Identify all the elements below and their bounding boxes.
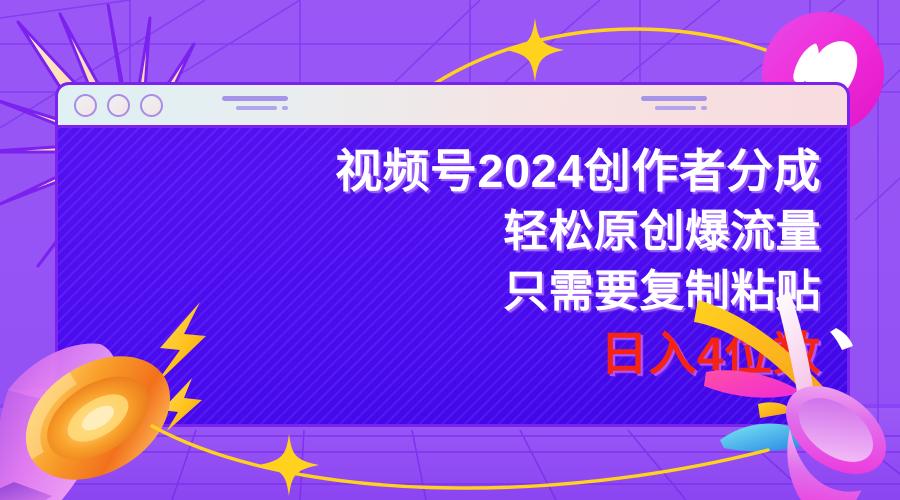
titlebar-bar-secondary <box>655 106 696 110</box>
headline-line-2: 轻松原创爆流量 <box>148 210 821 254</box>
titlebar-bar-dot <box>282 106 288 110</box>
window-screen: 视频号2024创作者分成 轻松原创爆流量 只需要复制粘贴 日入4位数 <box>58 128 847 427</box>
headline-line-4: 日入4位数 <box>148 330 821 377</box>
titlebar-bar-group-right <box>641 96 707 110</box>
window-titlebar <box>58 85 847 128</box>
headline-line-1: 视频号2024创作者分成 <box>148 148 821 194</box>
window-maximize-dot[interactable] <box>140 94 163 117</box>
traffic-light-buttons <box>74 94 163 117</box>
window-minimize-dot[interactable] <box>107 94 130 117</box>
titlebar-bar-primary <box>222 96 288 101</box>
titlebar-bar-group-left <box>222 96 288 110</box>
titlebar-bar-row <box>236 106 288 110</box>
headline-line-3: 只需要复制粘贴 <box>148 270 821 314</box>
window-close-dot[interactable] <box>74 94 97 117</box>
headline-block: 视频号2024创作者分成 轻松原创爆流量 只需要复制粘贴 日入4位数 <box>161 148 821 377</box>
titlebar-bar-secondary <box>236 106 277 110</box>
titlebar-bar-row <box>655 106 707 110</box>
titlebar-bar-dot <box>701 106 707 110</box>
promo-banner: 视频号2024创作者分成 轻松原创爆流量 只需要复制粘贴 日入4位数 <box>0 0 900 500</box>
titlebar-bar-primary <box>641 96 707 101</box>
browser-window: 视频号2024创作者分成 轻松原创爆流量 只需要复制粘贴 日入4位数 <box>55 82 850 427</box>
